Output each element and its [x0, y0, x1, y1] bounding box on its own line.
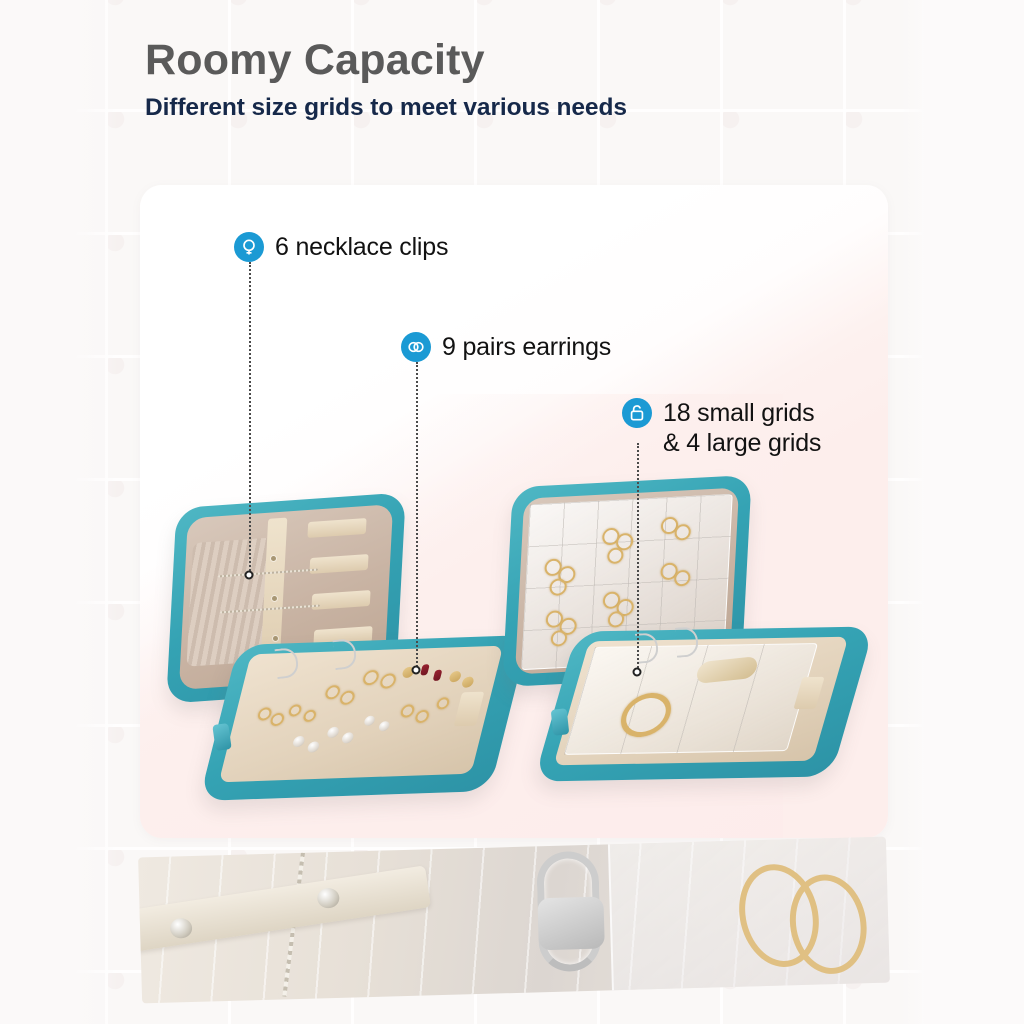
leader-line-pairs-earrings	[416, 362, 418, 670]
necklace-pendant-icon	[234, 232, 264, 262]
leader-endpoint-necklace-clips	[245, 571, 254, 580]
zipper-pull	[551, 708, 570, 736]
callout-label-grids: 18 small grids & 4 large grids	[663, 398, 821, 458]
closeup-detail-band	[138, 837, 890, 1004]
open-jewelry-case-right	[480, 481, 870, 781]
padlock-grid-icon	[622, 398, 652, 428]
callout-pairs-earrings[interactable]: 9 pairs earrings	[401, 332, 611, 362]
large-grid-lines	[564, 643, 818, 755]
callout-necklace-clips[interactable]: 6 necklace clips	[234, 232, 448, 262]
clip-snap	[271, 556, 276, 561]
leader-endpoint-grids	[633, 668, 642, 677]
page-subtitle: Different size grids to meet various nee…	[145, 94, 905, 122]
callout-grids[interactable]: 18 small grids & 4 large grids	[622, 398, 821, 458]
background-right-fade	[900, 0, 1024, 1024]
detail-binder-body	[537, 896, 604, 950]
callout-label-pairs-earrings: 9 pairs earrings	[442, 332, 611, 362]
zipper-pull	[212, 723, 231, 751]
page-title: Roomy Capacity	[145, 38, 905, 83]
leader-endpoint-pairs-earrings	[412, 666, 421, 675]
leader-line-necklace-clips	[249, 262, 251, 575]
product-card	[140, 185, 888, 838]
leader-line-grids	[637, 443, 639, 672]
callout-label-necklace-clips: 6 necklace clips	[275, 232, 448, 262]
clip-snap	[272, 596, 277, 601]
clip-snap	[273, 636, 278, 641]
earrings-rings-icon	[401, 332, 431, 362]
background-left-fade	[0, 0, 118, 1024]
heading-block: Roomy Capacity Different size grids to m…	[145, 38, 905, 122]
open-jewelry-case-left	[158, 500, 528, 800]
